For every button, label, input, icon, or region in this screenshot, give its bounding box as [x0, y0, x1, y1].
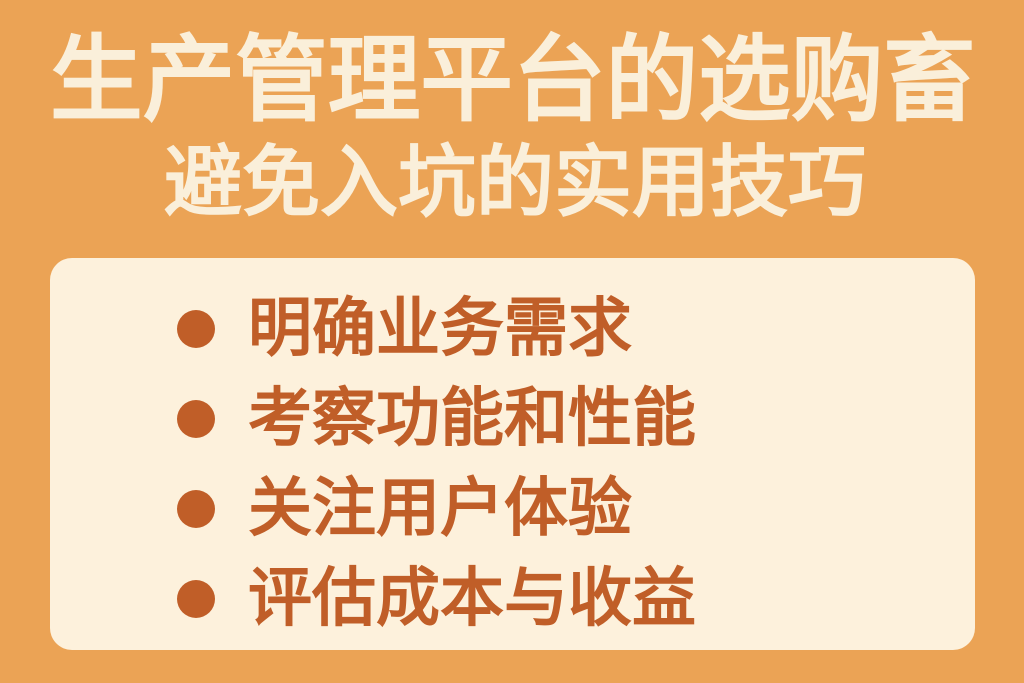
bullet-dot-icon — [177, 400, 215, 438]
bullet-dot-icon — [177, 310, 215, 348]
list-item: 关注用户体验 — [50, 464, 975, 554]
tips-list: 明确业务需求 考察功能和性能 关注用户体验 评估成本与收益 — [50, 258, 975, 650]
bullet-dot-icon — [177, 490, 215, 528]
page-subtitle: 避免入坑的实用技巧 — [50, 140, 980, 226]
poster-canvas: 生产管理平台的选购畜 避免入坑的实用技巧 明确业务需求 考察功能和性能 关注用户… — [0, 0, 1024, 683]
tips-card: 明确业务需求 考察功能和性能 关注用户体验 评估成本与收益 — [50, 258, 975, 650]
list-item-label: 评估成本与收益 — [248, 564, 696, 634]
list-item: 明确业务需求 — [50, 284, 975, 374]
list-item-label: 关注用户体验 — [248, 474, 632, 544]
list-item-label: 考察功能和性能 — [248, 384, 696, 454]
page-title: 生产管理平台的选购畜 — [50, 22, 966, 140]
bullet-dot-icon — [177, 580, 215, 618]
list-item: 评估成本与收益 — [50, 554, 975, 644]
list-item: 考察功能和性能 — [50, 374, 975, 464]
list-item-label: 明确业务需求 — [248, 294, 632, 364]
